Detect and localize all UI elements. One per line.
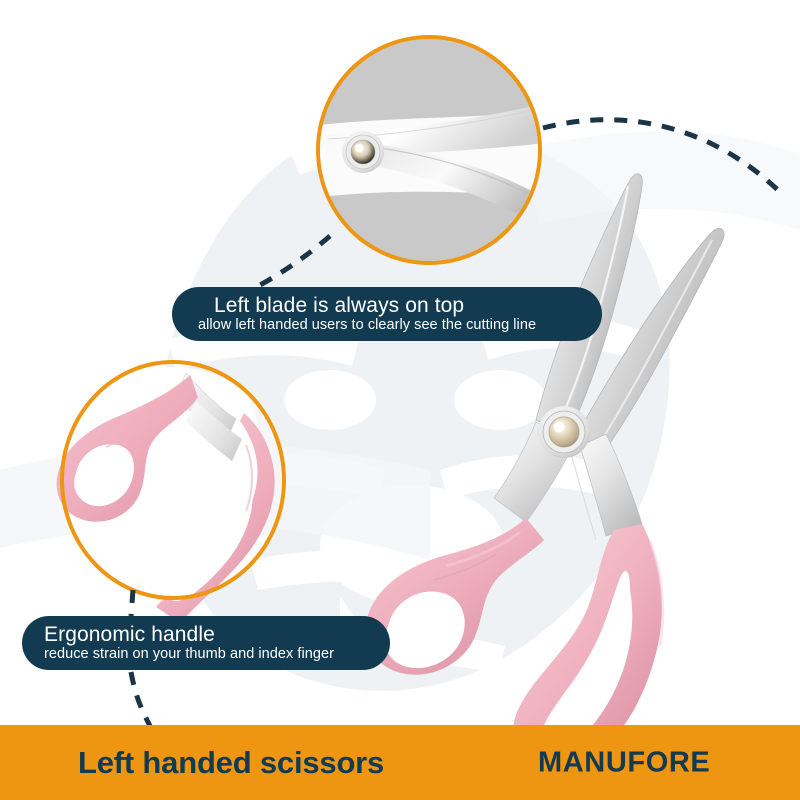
bottom-bar: Left handed scissors MANUFORE [0,725,800,800]
brand-name: MANUFORE [538,746,710,779]
connector-handle-callout-bottom [131,672,150,726]
product-scissors-image [330,150,800,730]
callout-handle-title: Ergonomic handle [44,623,368,646]
callout-blade-title: Left blade is always on top [198,294,576,317]
callout-blade: Left blade is always on top allow left h… [172,287,602,341]
connector-blade-callout [246,236,330,292]
infographic-page: Left blade is always on top allow left h… [0,0,800,800]
callout-handle: Ergonomic handle reduce strain on your t… [22,616,390,670]
bottom-bar-title: Left handed scissors [78,745,384,781]
callout-blade-subtitle: allow left handed users to clearly see t… [198,317,576,334]
handle-detail-circle [60,360,286,600]
callout-handle-subtitle: reduce strain on your thumb and index fi… [44,646,368,663]
